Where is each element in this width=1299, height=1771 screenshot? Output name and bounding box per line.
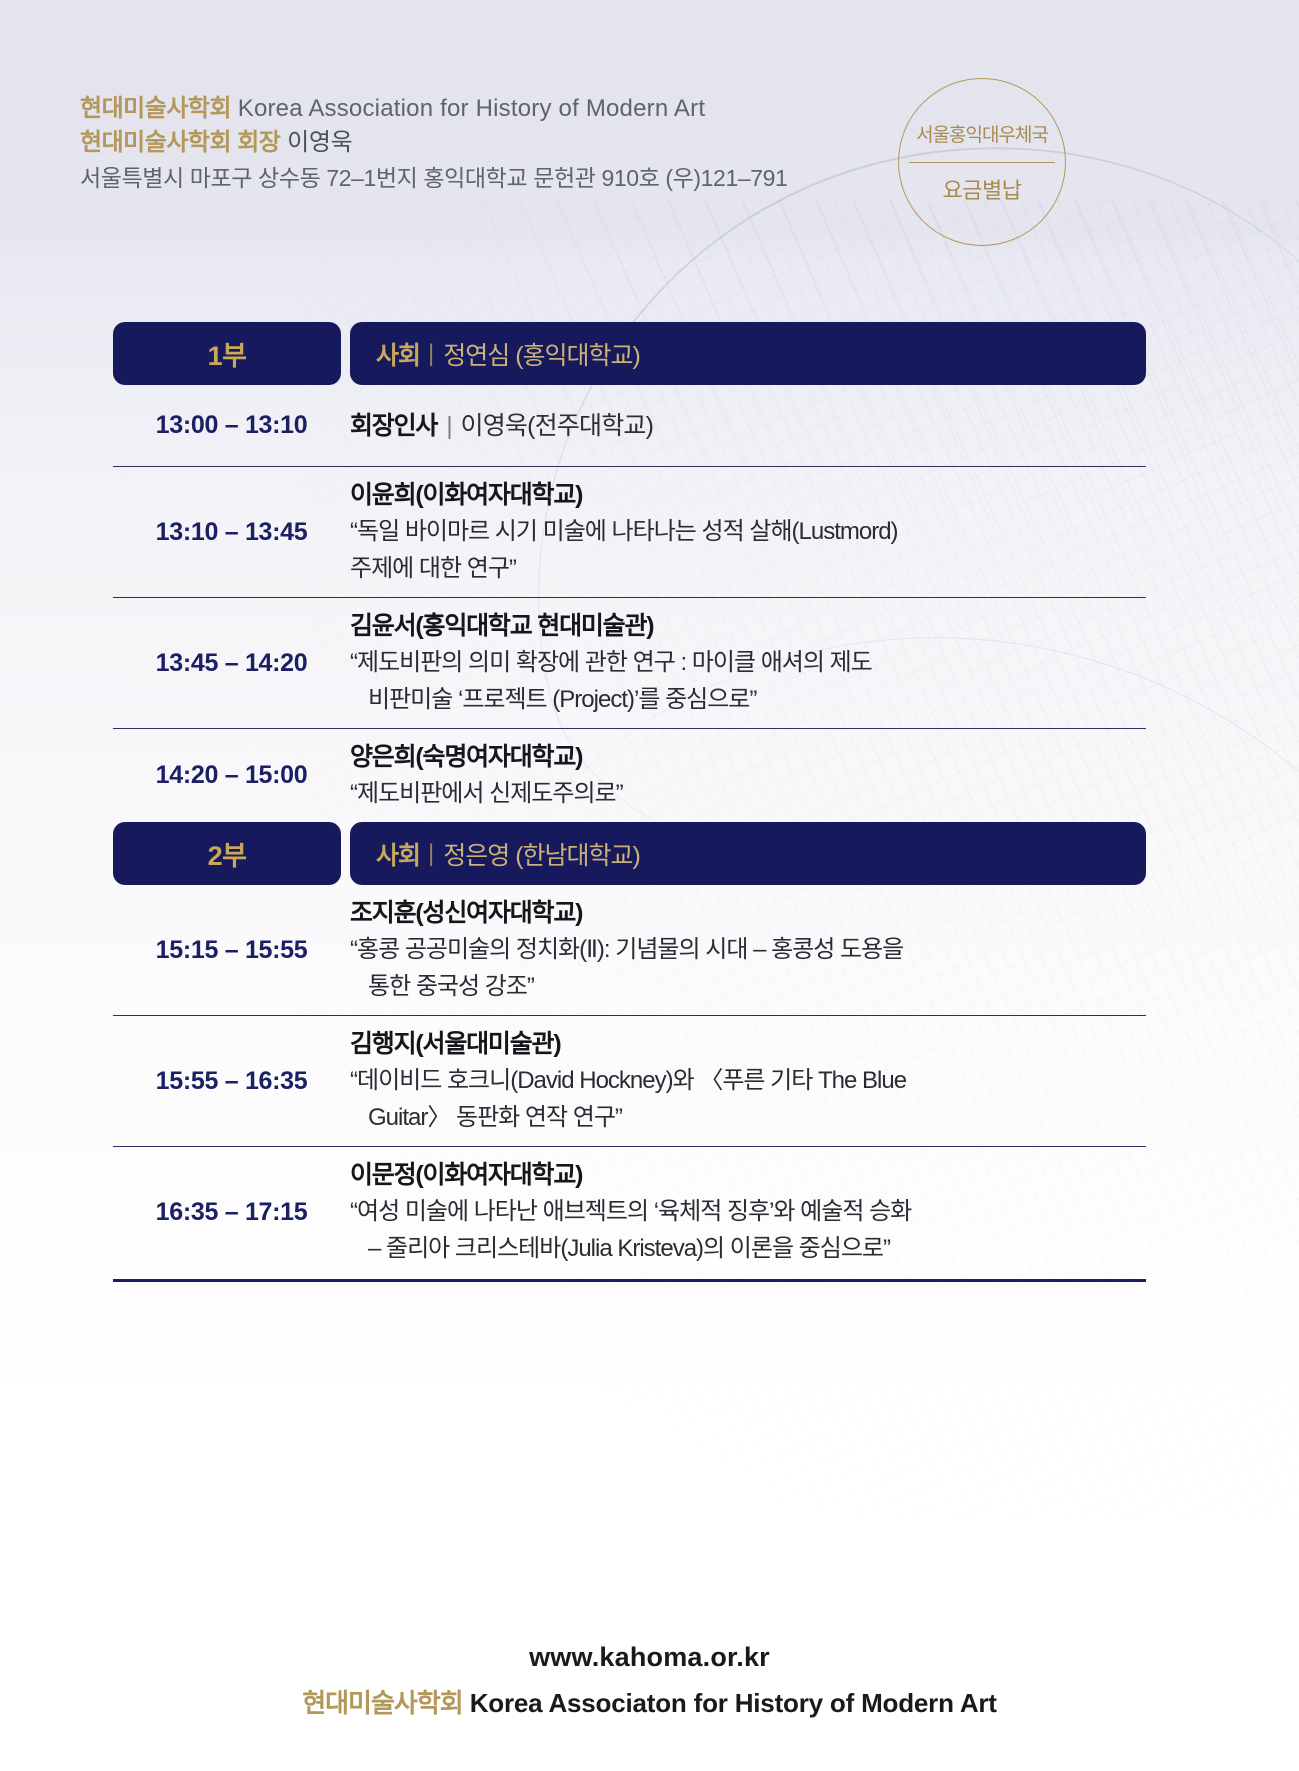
row-title-line1: “제도비판에서 신제도주의로” [350,776,1136,812]
row-time: 13:45 – 14:20 [113,649,350,678]
section-header-part2: 2부 사회 | 정은영 (한남대학교) [113,822,1146,885]
table-row: 15:15 – 15:55 조지훈(성신여자대학교) “홍콩 공공미술의 정치화… [113,885,1146,1016]
chair-separator-1: | [428,340,434,368]
row-body: 이윤희(이화여자대학교) “독일 바이마르 시기 미술에 나타나는 성적 살해(… [350,477,1146,587]
row-title-line2: 비판미술 ‘프로젝트 (Project)’를 중심으로” [350,682,1136,718]
row-body: 이문정(이화여자대학교) “여성 미술에 나타난 애브젝트의 ‘육체적 징후’와… [350,1157,1146,1267]
row-body: 김행지(서울대미술관) “데이비드 호크니(David Hockney)와 〈푸… [350,1026,1146,1136]
row-body: 김윤서(홍익대학교 현대미술관) “제도비판의 의미 확장에 관한 연구 : 마… [350,608,1146,718]
row-presenter: 양은희(숙명여자대학교) [350,739,1136,775]
chair-bar-2: 사회 | 정은영 (한남대학교) [350,822,1146,885]
president-label: 현대미술사학회 회장 [80,129,280,156]
row-title-line2: – 줄리아 크리스테바(Julia Kristeva)의 이론을 중심으로” [350,1231,1136,1267]
chair-label-1: 사회 [376,336,420,372]
chair-bar-1: 사회 | 정연심 (홍익대학교) [350,322,1146,385]
row-presenter-separator: | [446,412,451,440]
table-row: 13:10 – 13:45 이윤희(이화여자대학교) “독일 바이마르 시기 미… [113,467,1146,598]
row-title-line2: 통한 중국성 강조” [350,969,1136,1005]
row-title-line1: “독일 바이마르 시기 미술에 나타나는 성적 살해(Lustmord) [350,514,1136,550]
row-time: 14:20 – 15:00 [113,761,350,790]
chair-name-1: 정연심 (홍익대학교) [443,336,640,372]
organization-name-ko: 현대미술사학회 [80,95,231,122]
row-time: 13:00 – 13:10 [113,411,350,440]
row-title-line2: Guitar〉 동판화 연작 연구” [350,1100,1136,1136]
program-schedule: 1부 사회 | 정연심 (홍익대학교) 13:00 – 13:10 회장인사|이… [113,322,1146,1282]
row-presenter: 이윤희(이화여자대학교) [350,477,1136,513]
row-title-line1: “데이비드 호크니(David Hockney)와 〈푸른 기타 The Blu… [350,1063,1136,1099]
row-body: 회장인사|이영욱(전주대학교) [350,408,1146,444]
postmark-postage-type: 요금별납 [943,159,1022,205]
footer-org-en: Korea Associaton for History of Modern A… [470,1688,997,1718]
table-row: 13:00 – 13:10 회장인사|이영욱(전주대학교) [113,385,1146,467]
row-title-line1: “홍콩 공공미술의 정치화(Ⅱ): 기념물의 시대 – 홍콩성 도용을 [350,932,1136,968]
row-presenter: 김윤서(홍익대학교 현대미술관) [350,608,1136,644]
part-label-2: 2부 [113,822,341,885]
chair-name-2: 정은영 (한남대학교) [443,836,640,872]
row-body: 양은희(숙명여자대학교) “제도비판에서 신제도주의로” [350,739,1146,812]
row-title-line1: “여성 미술에 나타난 애브젝트의 ‘육체적 징후’와 예술적 승화 [350,1194,1136,1230]
postage-stamp-mark: 서울홍익대우체국 요금별납 [898,78,1066,246]
section-header-part1: 1부 사회 | 정연심 (홍익대학교) [113,322,1146,385]
table-row: 15:55 – 16:35 김행지(서울대미술관) “데이비드 호크니(Davi… [113,1016,1146,1147]
row-presenter: 회장인사|이영욱(전주대학교) [350,408,1136,444]
table-row: 14:20 – 15:00 양은희(숙명여자대학교) “제도비판에서 신제도주의… [113,729,1146,822]
row-time: 13:10 – 13:45 [113,518,350,547]
postmark-office-name: 서울홍익대우체국 [916,120,1048,159]
footer-org-ko: 현대미술사학회 [302,1688,462,1718]
row-presenter: 이문정(이화여자대학교) [350,1157,1136,1193]
row-title-line1: “제도비판의 의미 확장에 관한 연구 : 마이클 애셔의 제도 [350,645,1136,681]
website-url[interactable]: www.kahoma.or.kr [0,1642,1299,1673]
row-time: 16:35 – 17:15 [113,1198,350,1227]
row-presenter: 조지훈(성신여자대학교) [350,895,1136,931]
president-name: 이영욱 [287,129,352,156]
organization-name-en: Korea Association for History of Modern … [238,95,705,122]
page-footer: www.kahoma.or.kr 현대미술사학회 Korea Associato… [0,1642,1299,1720]
part-label-1: 1부 [113,322,341,385]
row-time: 15:15 – 15:55 [113,936,350,965]
row-title-line2: 주제에 대한 연구” [350,551,1136,587]
row-presenter-label: 회장인사 [350,412,437,440]
table-row: 16:35 – 17:15 이문정(이화여자대학교) “여성 미술에 나타난 애… [113,1147,1146,1277]
row-presenter: 김행지(서울대미술관) [350,1026,1136,1062]
row-time: 15:55 – 16:35 [113,1067,350,1096]
program-bottom-rule [113,1279,1146,1282]
footer-organization: 현대미술사학회 Korea Associaton for History of … [0,1683,1299,1720]
chair-separator-2: | [428,840,434,868]
table-row: 13:45 – 14:20 김윤서(홍익대학교 현대미술관) “제도비판의 의미… [113,598,1146,729]
postmark-divider [909,162,1055,163]
row-body: 조지훈(성신여자대학교) “홍콩 공공미술의 정치화(Ⅱ): 기념물의 시대 –… [350,895,1146,1005]
chair-label-2: 사회 [376,836,420,872]
row-presenter-name: 이영욱(전주대학교) [461,412,654,440]
